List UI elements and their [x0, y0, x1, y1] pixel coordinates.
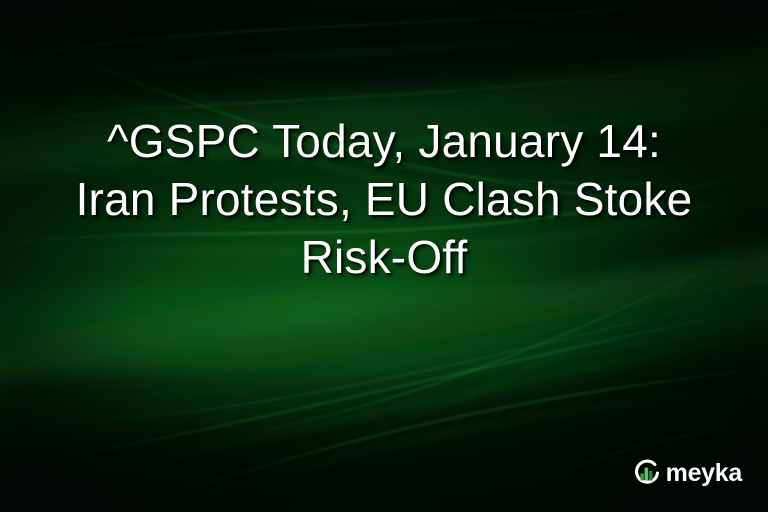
headline-container: ^GSPC Today, January 14: Iran Protests, … — [0, 112, 768, 286]
bar-chart-in-ring-icon — [632, 458, 662, 488]
page-title: ^GSPC Today, January 14: Iran Protests, … — [24, 112, 744, 286]
logo-wordmark: meyka — [666, 461, 742, 486]
meyka-logo[interactable]: meyka — [632, 458, 742, 488]
article-banner: ^GSPC Today, January 14: Iran Protests, … — [0, 0, 768, 512]
